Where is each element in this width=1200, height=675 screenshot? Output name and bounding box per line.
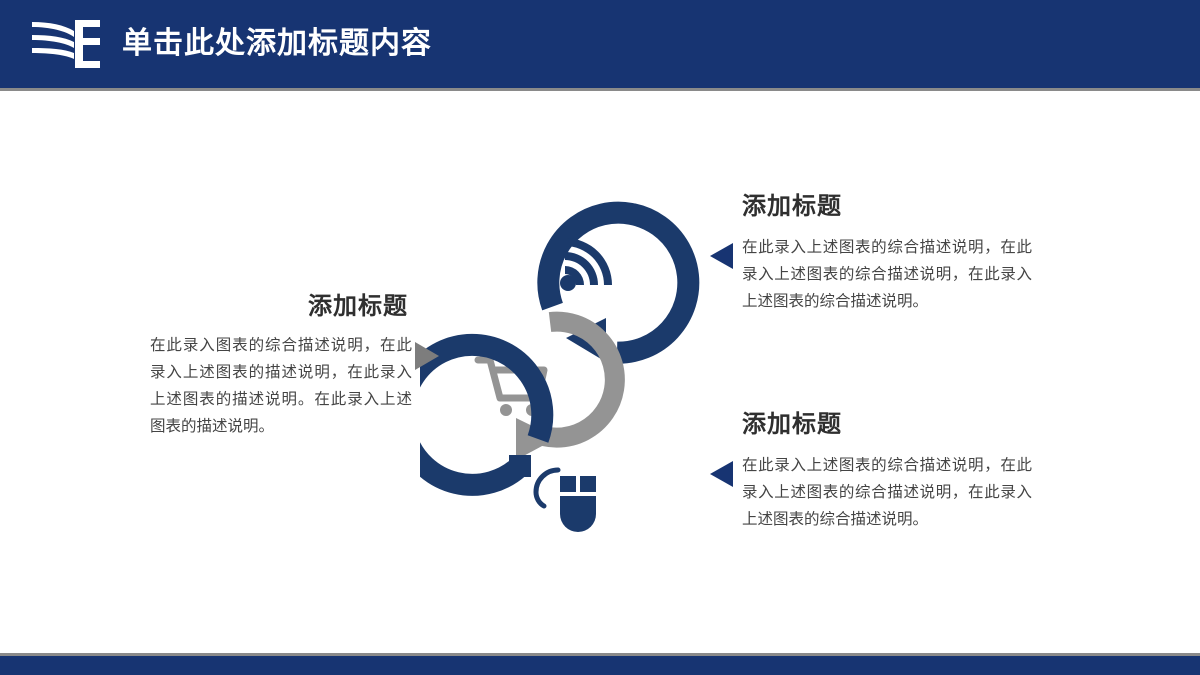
block-right-bottom-title: 添加标题 (742, 410, 1032, 440)
block-right-top-body: 在此录入上述图表的综合描述说明，在此录入上述图表的综合描述说明，在此录入上述图表… (742, 234, 1032, 315)
page-title: 单击此处添加标题内容 (122, 26, 432, 62)
block-left-title: 添加标题 (150, 292, 412, 322)
header-divider (0, 88, 1200, 91)
wifi-signal-icon (560, 238, 612, 291)
triangle-left-marker-bottom (710, 461, 733, 487)
slide-canvas: 单击此处添加标题内容 (0, 0, 1200, 675)
block-right-top-title: 添加标题 (742, 192, 1032, 222)
computer-mouse-icon (536, 470, 598, 532)
footer-bar (0, 656, 1200, 675)
triangle-right-marker (415, 342, 439, 370)
three-bars-logo (30, 18, 102, 70)
text-block-left: 添加标题 在此录入图表的综合描述说明，在此录入上述图表的描述说明，在此录入上述图… (150, 292, 412, 440)
block-left-body: 在此录入图表的综合描述说明，在此录入上述图表的描述说明，在此录入上述图表的描述说… (150, 332, 412, 440)
three-step-cycle-diagram (420, 170, 720, 590)
block-right-bottom-body: 在此录入上述图表的综合描述说明，在此录入上述图表的综合描述说明，在此录入上述图表… (742, 452, 1032, 533)
text-block-right-bottom: 添加标题 在此录入上述图表的综合描述说明，在此录入上述图表的综合描述说明，在此录… (742, 410, 1032, 533)
text-block-right-top: 添加标题 在此录入上述图表的综合描述说明，在此录入上述图表的综合描述说明，在此录… (742, 192, 1032, 315)
triangle-left-marker-top (710, 243, 733, 269)
diagram-node-top (526, 190, 712, 376)
